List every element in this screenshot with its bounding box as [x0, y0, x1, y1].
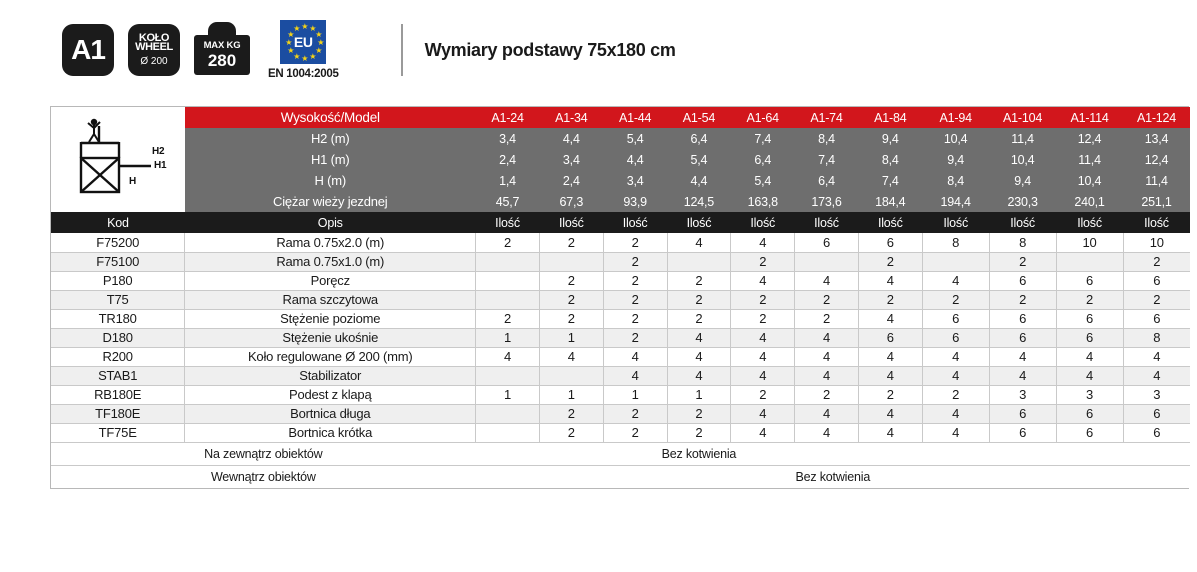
part-quantity: 2: [858, 385, 922, 404]
spec-value: 10,4: [1056, 170, 1123, 191]
spec-value: 10,4: [922, 128, 989, 149]
table-row: D180Stężenie ukośnie11244466668: [51, 328, 1190, 347]
part-description: Koło regulowane Ø 200 (mm): [185, 347, 476, 366]
part-quantity: 4: [795, 423, 859, 442]
spec-row: Ciężar wieży jezdnej45,767,393,9124,5163…: [51, 191, 1190, 212]
spec-row-label: H1 (m): [185, 149, 476, 170]
parts-header-qty: Ilość: [667, 212, 731, 233]
model-header-label: Wysokość/Model: [185, 107, 476, 128]
part-quantity: 4: [858, 404, 922, 423]
parts-header-opis: Opis: [185, 212, 476, 233]
max-load-badge-body: MAX KG 280: [194, 35, 250, 75]
part-quantity: 2: [1056, 290, 1123, 309]
spec-value: 8,4: [858, 149, 922, 170]
part-description: Rama 0.75x1.0 (m): [185, 252, 476, 271]
table-row: RB180EPodest z klapą11112222333: [51, 385, 1190, 404]
part-quantity: 4: [795, 271, 859, 290]
parts-header-qty: Ilość: [1056, 212, 1123, 233]
part-quantity: 2: [989, 290, 1056, 309]
part-code: RB180E: [51, 385, 185, 404]
part-quantity: 2: [795, 290, 859, 309]
part-quantity: [539, 366, 603, 385]
part-quantity: 4: [731, 366, 795, 385]
part-quantity: 2: [603, 233, 667, 252]
page-header: A1 KOŁO WHEEL Ø 200 MAX KG 280 ★ ★ ★ ★ ★…: [0, 0, 1197, 100]
max-load-badge-label: MAX KG: [204, 41, 241, 51]
part-quantity: [795, 252, 859, 271]
part-quantity: 3: [989, 385, 1056, 404]
part-quantity: [476, 423, 540, 442]
part-quantity: 10: [1056, 233, 1123, 252]
part-quantity: 4: [731, 423, 795, 442]
part-quantity: 6: [989, 423, 1056, 442]
table-row: STAB1Stabilizator444444444: [51, 366, 1190, 385]
table-row: F75200Rama 0.75x2.0 (m)2224466881010: [51, 233, 1190, 252]
part-quantity: 2: [989, 252, 1056, 271]
badge-group: A1 KOŁO WHEEL Ø 200 MAX KG 280 ★ ★ ★ ★ ★…: [62, 20, 339, 80]
parts-header-qty: Ilość: [858, 212, 922, 233]
part-quantity: 6: [1123, 309, 1190, 328]
part-quantity: 1: [476, 328, 540, 347]
part-quantity: [1056, 252, 1123, 271]
model-header-a1-94: A1-94: [922, 107, 989, 128]
part-quantity: 6: [922, 328, 989, 347]
part-code: R200: [51, 347, 185, 366]
spec-value: 10,4: [989, 149, 1056, 170]
part-quantity: 2: [795, 309, 859, 328]
spec-value: 5,4: [667, 149, 731, 170]
wheel-badge-diameter: Ø 200: [140, 57, 167, 67]
part-quantity: 2: [731, 309, 795, 328]
spec-value: 251,1: [1123, 191, 1190, 212]
part-code: T75: [51, 290, 185, 309]
part-quantity: 4: [667, 366, 731, 385]
part-quantity: 2: [667, 404, 731, 423]
parts-header-qty: Ilość: [795, 212, 859, 233]
part-quantity: 1: [539, 328, 603, 347]
spec-row-label: Ciężar wieży jezdnej: [185, 191, 476, 212]
table-row: TF75EBortnica krótka2224444666: [51, 423, 1190, 442]
part-quantity: 2: [667, 423, 731, 442]
part-quantity: 6: [1123, 271, 1190, 290]
parts-header-qty: Ilość: [476, 212, 540, 233]
max-load-badge-value: 280: [208, 52, 236, 69]
part-quantity: 2: [539, 271, 603, 290]
parts-header-qty: Ilość: [539, 212, 603, 233]
part-code: F75100: [51, 252, 185, 271]
part-quantity: 4: [795, 347, 859, 366]
spec-value: 1,4: [476, 170, 540, 191]
page-title: Wymiary podstawy 75x180 cm: [425, 40, 676, 61]
spec-value: 7,4: [731, 128, 795, 149]
part-code: TF180E: [51, 404, 185, 423]
anchoring-row: Na zewnątrz obiektówBez kotwieniaZ kotwi…: [51, 442, 1190, 465]
part-quantity: 4: [731, 404, 795, 423]
table-row: R200Koło regulowane Ø 200 (mm)4444444444…: [51, 347, 1190, 366]
spec-value: 13,4: [1123, 128, 1190, 149]
model-header-row: H2H1HWysokość/ModelA1-24A1-34A1-44A1-54A…: [51, 107, 1190, 128]
part-code: P180: [51, 271, 185, 290]
anchoring-band-anchored: Z kotwieniem: [922, 442, 1190, 465]
max-load-badge: MAX KG 280: [194, 22, 250, 78]
spec-value: 8,4: [922, 170, 989, 191]
part-quantity: 1: [667, 385, 731, 404]
parts-header-qty: Ilość: [922, 212, 989, 233]
part-code: D180: [51, 328, 185, 347]
spec-value: 5,4: [731, 170, 795, 191]
diagram-label-h: H: [129, 176, 136, 187]
model-header-a1-24: A1-24: [476, 107, 540, 128]
part-quantity: 4: [731, 347, 795, 366]
part-description: Stabilizator: [185, 366, 476, 385]
part-quantity: 8: [922, 233, 989, 252]
wheel-badge: KOŁO WHEEL Ø 200: [128, 24, 180, 76]
part-quantity: 4: [795, 328, 859, 347]
part-quantity: 2: [667, 309, 731, 328]
part-quantity: 4: [731, 271, 795, 290]
part-description: Podest z klapą: [185, 385, 476, 404]
anchoring-band-unanchored: Bez kotwienia: [476, 465, 1190, 488]
part-quantity: 6: [1123, 423, 1190, 442]
part-quantity: 4: [989, 347, 1056, 366]
part-code: TR180: [51, 309, 185, 328]
part-code: F75200: [51, 233, 185, 252]
part-code: TF75E: [51, 423, 185, 442]
part-quantity: 4: [922, 366, 989, 385]
spec-value: 2,4: [476, 149, 540, 170]
parts-header-qty: Ilość: [731, 212, 795, 233]
part-quantity: 4: [731, 233, 795, 252]
part-quantity: 2: [731, 290, 795, 309]
model-header-a1-44: A1-44: [603, 107, 667, 128]
part-description: Poręcz: [185, 271, 476, 290]
model-header-a1-34: A1-34: [539, 107, 603, 128]
part-quantity: [539, 252, 603, 271]
part-quantity: 4: [989, 366, 1056, 385]
part-quantity: [476, 271, 540, 290]
spec-value: 4,4: [539, 128, 603, 149]
part-quantity: 2: [731, 252, 795, 271]
anchoring-label: Na zewnątrz obiektów: [51, 442, 476, 465]
part-description: Rama szczytowa: [185, 290, 476, 309]
spec-value: 173,6: [795, 191, 859, 212]
part-quantity: 4: [922, 271, 989, 290]
part-quantity: 4: [858, 366, 922, 385]
spec-value: 11,4: [1123, 170, 1190, 191]
part-quantity: [922, 252, 989, 271]
part-quantity: 4: [539, 347, 603, 366]
anchoring-band-unanchored: Bez kotwienia: [476, 442, 923, 465]
spec-value: 3,4: [476, 128, 540, 149]
part-quantity: 2: [539, 233, 603, 252]
part-quantity: 2: [1123, 252, 1190, 271]
parts-header-qty: Ilość: [1123, 212, 1190, 233]
part-quantity: 4: [922, 347, 989, 366]
spec-row: H2 (m)3,44,45,46,47,48,49,410,411,412,41…: [51, 128, 1190, 149]
part-quantity: 2: [603, 404, 667, 423]
part-quantity: 8: [989, 233, 1056, 252]
part-quantity: 6: [989, 309, 1056, 328]
part-quantity: 4: [795, 366, 859, 385]
parts-header-qty: Ilość: [989, 212, 1056, 233]
part-quantity: 4: [1123, 347, 1190, 366]
spec-value: 9,4: [922, 149, 989, 170]
part-quantity: 1: [539, 385, 603, 404]
model-header-a1-114: A1-114: [1056, 107, 1123, 128]
model-header-a1-124: A1-124: [1123, 107, 1190, 128]
part-quantity: 4: [1056, 347, 1123, 366]
spec-value: 184,4: [858, 191, 922, 212]
spec-value: 6,4: [795, 170, 859, 191]
part-quantity: [476, 366, 540, 385]
table-row: P180Poręcz2224444666: [51, 271, 1190, 290]
part-quantity: 4: [667, 328, 731, 347]
spec-value: 9,4: [858, 128, 922, 149]
part-quantity: 2: [922, 385, 989, 404]
part-quantity: 6: [1056, 309, 1123, 328]
diagram-label-h1: H1: [154, 160, 166, 171]
part-quantity: 4: [667, 233, 731, 252]
spec-value: 12,4: [1056, 128, 1123, 149]
spec-value: 67,3: [539, 191, 603, 212]
part-quantity: 1: [476, 385, 540, 404]
eu-norm-label: EN 1004:2005: [268, 68, 339, 80]
table-row: TF180EBortnica długa2224444666: [51, 404, 1190, 423]
part-quantity: 1: [603, 385, 667, 404]
part-quantity: 6: [989, 404, 1056, 423]
part-quantity: 4: [858, 309, 922, 328]
spec-value: 9,4: [989, 170, 1056, 191]
spec-value: 5,4: [603, 128, 667, 149]
part-quantity: 4: [476, 347, 540, 366]
part-quantity: 2: [858, 252, 922, 271]
table-row: F75100Rama 0.75x1.0 (m)22222: [51, 252, 1190, 271]
part-quantity: 2: [667, 290, 731, 309]
spec-value: 45,7: [476, 191, 540, 212]
part-quantity: 2: [476, 309, 540, 328]
part-quantity: 4: [603, 366, 667, 385]
part-quantity: 6: [795, 233, 859, 252]
spec-value: 194,4: [922, 191, 989, 212]
part-quantity: 3: [1123, 385, 1190, 404]
model-header-a1-104: A1-104: [989, 107, 1056, 128]
part-quantity: [476, 404, 540, 423]
part-quantity: 4: [603, 347, 667, 366]
part-quantity: 2: [476, 233, 540, 252]
model-header-a1-54: A1-54: [667, 107, 731, 128]
anchoring-row: Wewnątrz obiektówBez kotwienia: [51, 465, 1190, 488]
part-quantity: 6: [922, 309, 989, 328]
spec-row-label: H2 (m): [185, 128, 476, 149]
wheel-badge-line2: WHEEL: [135, 42, 173, 53]
part-quantity: 2: [667, 271, 731, 290]
part-quantity: 2: [539, 309, 603, 328]
part-quantity: 4: [667, 347, 731, 366]
part-quantity: 6: [1056, 423, 1123, 442]
spec-value: 124,5: [667, 191, 731, 212]
part-quantity: 4: [922, 404, 989, 423]
tower-height-diagram: H2H1H: [51, 108, 185, 212]
part-quantity: 4: [858, 271, 922, 290]
part-description: Bortnica długa: [185, 404, 476, 423]
parts-header-row: KodOpisIlośćIlośćIlośćIlośćIlośćIlośćIlo…: [51, 212, 1190, 233]
part-quantity: 2: [603, 309, 667, 328]
diagram-label-h2: H2: [152, 146, 164, 157]
part-quantity: 2: [922, 290, 989, 309]
part-quantity: 6: [1056, 271, 1123, 290]
table-row: T75Rama szczytowa2222222222: [51, 290, 1190, 309]
spec-value: 3,4: [539, 149, 603, 170]
part-quantity: 6: [858, 328, 922, 347]
part-quantity: 2: [1123, 290, 1190, 309]
title-divider: [401, 24, 403, 76]
eu-certification-badge: ★ ★ ★ ★ ★ ★ ★ ★ ★ ★ ★ ★ EU EN 1004:2005: [268, 20, 339, 80]
model-badge-label: A1: [71, 34, 105, 66]
spec-value: 11,4: [989, 128, 1056, 149]
part-quantity: 2: [858, 290, 922, 309]
part-quantity: 6: [989, 328, 1056, 347]
part-description: Stężenie ukośnie: [185, 328, 476, 347]
part-quantity: 2: [539, 423, 603, 442]
part-description: Stężenie poziome: [185, 309, 476, 328]
spec-row: H (m)1,42,43,44,45,46,47,48,49,410,411,4: [51, 170, 1190, 191]
part-quantity: 4: [858, 347, 922, 366]
spec-value: 93,9: [603, 191, 667, 212]
part-quantity: 4: [858, 423, 922, 442]
part-quantity: 2: [603, 423, 667, 442]
height-diagram-cell: H2H1H: [51, 107, 185, 212]
spec-value: 6,4: [731, 149, 795, 170]
part-quantity: 6: [1056, 404, 1123, 423]
part-quantity: 4: [1056, 366, 1123, 385]
model-header-a1-84: A1-84: [858, 107, 922, 128]
part-quantity: 6: [989, 271, 1056, 290]
spec-value: 240,1: [1056, 191, 1123, 212]
spec-row-label: H (m): [185, 170, 476, 191]
part-quantity: 6: [1056, 328, 1123, 347]
anchoring-label: Wewnątrz obiektów: [51, 465, 476, 488]
part-quantity: 2: [731, 385, 795, 404]
part-quantity: 2: [795, 385, 859, 404]
part-quantity: 4: [922, 423, 989, 442]
part-quantity: 6: [858, 233, 922, 252]
part-quantity: 3: [1056, 385, 1123, 404]
spec-value: 11,4: [1056, 149, 1123, 170]
part-description: Bortnica krótka: [185, 423, 476, 442]
part-code: STAB1: [51, 366, 185, 385]
parts-header-qty: Ilość: [603, 212, 667, 233]
part-quantity: 6: [1123, 404, 1190, 423]
specification-table-wrapper: H2H1HWysokość/ModelA1-24A1-34A1-44A1-54A…: [50, 106, 1189, 489]
part-quantity: 2: [603, 252, 667, 271]
part-quantity: 2: [603, 271, 667, 290]
spec-value: 8,4: [795, 128, 859, 149]
spec-value: 4,4: [667, 170, 731, 191]
spec-value: 7,4: [795, 149, 859, 170]
spec-value: 12,4: [1123, 149, 1190, 170]
part-quantity: 2: [603, 328, 667, 347]
spec-value: 2,4: [539, 170, 603, 191]
spec-value: 6,4: [667, 128, 731, 149]
spec-value: 4,4: [603, 149, 667, 170]
part-description: Rama 0.75x2.0 (m): [185, 233, 476, 252]
part-quantity: 4: [795, 404, 859, 423]
eu-flag-icon: ★ ★ ★ ★ ★ ★ ★ ★ ★ ★ ★ ★ EU: [280, 20, 326, 64]
part-quantity: [667, 252, 731, 271]
part-quantity: 4: [731, 328, 795, 347]
model-badge: A1: [62, 24, 114, 76]
part-quantity: 2: [603, 290, 667, 309]
eu-badge-label: EU: [294, 34, 313, 50]
model-header-a1-64: A1-64: [731, 107, 795, 128]
spec-value: 230,3: [989, 191, 1056, 212]
part-quantity: 2: [539, 404, 603, 423]
part-quantity: 10: [1123, 233, 1190, 252]
spec-row: H1 (m)2,43,44,45,46,47,48,49,410,411,412…: [51, 149, 1190, 170]
part-quantity: [476, 290, 540, 309]
spec-value: 7,4: [858, 170, 922, 191]
table-row: TR180Stężenie poziome22222246666: [51, 309, 1190, 328]
model-header-a1-74: A1-74: [795, 107, 859, 128]
parts-header-kod: Kod: [51, 212, 185, 233]
part-quantity: 8: [1123, 328, 1190, 347]
spec-value: 163,8: [731, 191, 795, 212]
spec-value: 3,4: [603, 170, 667, 191]
specification-table: H2H1HWysokość/ModelA1-24A1-34A1-44A1-54A…: [51, 107, 1190, 488]
part-quantity: [476, 252, 540, 271]
part-quantity: 4: [1123, 366, 1190, 385]
part-quantity: 2: [539, 290, 603, 309]
